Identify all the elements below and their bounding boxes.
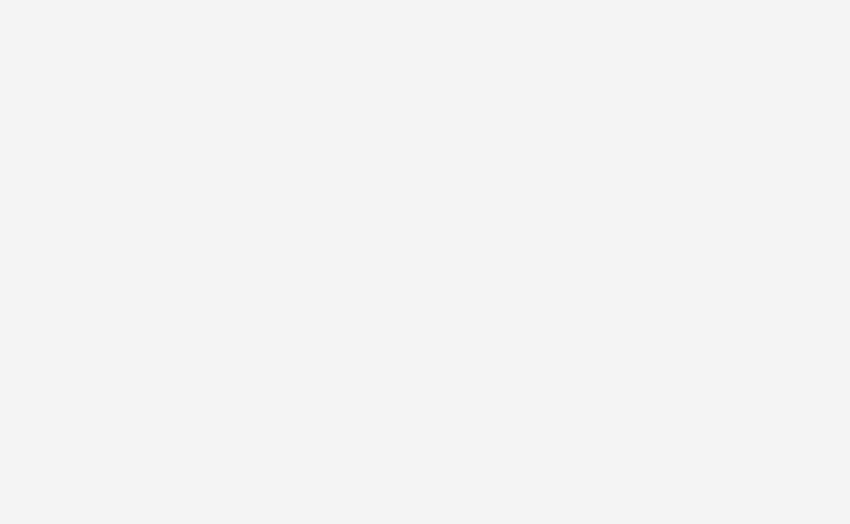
chart-page	[0, 0, 850, 524]
area-chart-plot	[0, 0, 850, 524]
